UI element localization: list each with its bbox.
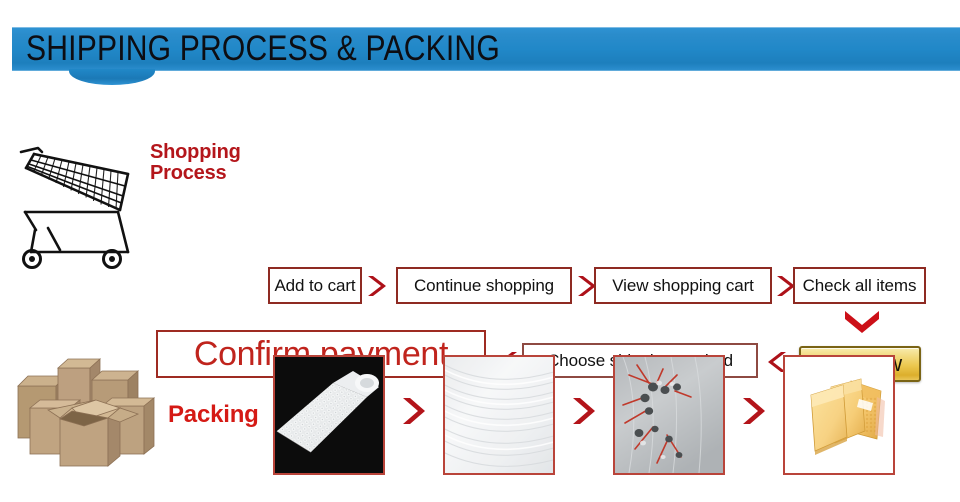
shopping-cart-icon (8, 132, 142, 272)
step-view-shopping-cart[interactable]: View shopping cart (594, 267, 772, 304)
step-check-all-items[interactable]: Check all items (793, 267, 926, 304)
page-title: SHIPPING PROCESS & PACKING (26, 27, 500, 71)
shopping-process-label: Shopping Process (150, 142, 262, 184)
shopping-process-label-line2: Process (150, 163, 262, 184)
shopping-process-label-line1: Shopping (150, 142, 262, 163)
step-add-to-cart[interactable]: Add to cart (268, 267, 362, 304)
packing-label: Packing (168, 401, 259, 429)
packing-section: Packing (0, 330, 960, 502)
page-header-banner: SHIPPING PROCESS & PACKING (12, 27, 960, 71)
step-continue-shopping[interactable]: Continue shopping (396, 267, 572, 304)
cardboard-boxes-icon (14, 348, 164, 478)
packing-panel-bubble-wrap (273, 355, 385, 475)
packing-panel-padded-mailers (783, 355, 895, 475)
packing-panel-foam-sheet (443, 355, 555, 475)
shopping-process-section: Shopping Process Add to cart Continue sh… (0, 120, 960, 280)
banner-notch-tab (69, 69, 155, 85)
packing-panel-wrapped-components (613, 355, 725, 475)
